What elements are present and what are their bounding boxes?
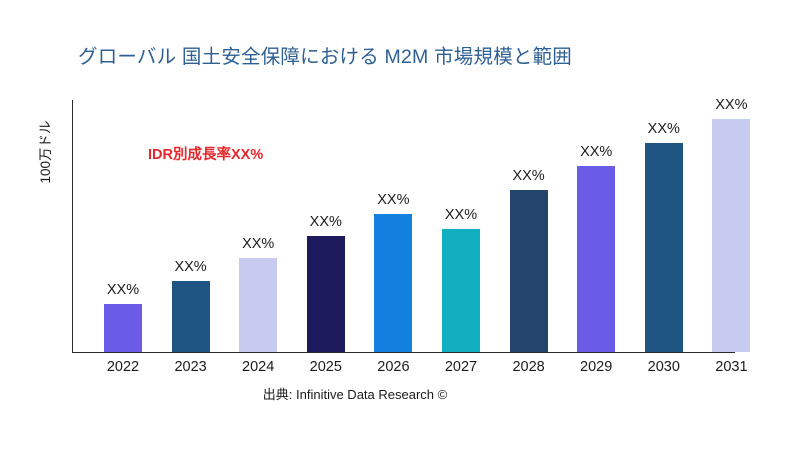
bar-2025[interactable]	[307, 236, 345, 352]
bar-2022[interactable]	[104, 304, 142, 352]
bar-2024[interactable]	[239, 258, 277, 352]
x-tick-label-2028: 2028	[512, 359, 544, 375]
x-tick-label-2027: 2027	[445, 359, 477, 375]
bar-value-label-2022: XX%	[107, 282, 139, 298]
bar-value-label-2028: XX%	[512, 168, 544, 184]
x-tick-label-2029: 2029	[580, 359, 612, 375]
bar-group: XX%2025	[293, 236, 359, 352]
bar-group: XX%2026	[360, 214, 426, 352]
x-tick-label-2025: 2025	[310, 359, 342, 375]
bar-2030[interactable]	[645, 143, 683, 352]
bar-value-label-2025: XX%	[310, 214, 342, 230]
bar-group: XX%2027	[428, 229, 494, 352]
bar-2031[interactable]	[712, 119, 750, 352]
x-tick-label-2030: 2030	[648, 359, 680, 375]
x-tick-label-2031: 2031	[715, 359, 747, 375]
x-tick-label-2026: 2026	[377, 359, 409, 375]
bar-value-label-2027: XX%	[445, 207, 477, 223]
x-tick-label-2022: 2022	[107, 359, 139, 375]
bar-2028[interactable]	[510, 190, 548, 352]
bar-2029[interactable]	[577, 166, 615, 352]
bar-2026[interactable]	[374, 214, 412, 352]
bar-value-label-2030: XX%	[648, 121, 680, 137]
bar-value-label-2031: XX%	[715, 97, 747, 113]
bar-value-label-2024: XX%	[242, 236, 274, 252]
bar-group: XX%2024	[225, 258, 291, 352]
bar-group: XX%2030	[631, 143, 697, 352]
bar-group: XX%2029	[563, 166, 629, 352]
bar-group: XX%2022	[90, 304, 156, 352]
bar-value-label-2029: XX%	[580, 144, 612, 160]
x-tick-label-2024: 2024	[242, 359, 274, 375]
bar-group: XX%2023	[158, 281, 224, 352]
bar-group: XX%2028	[496, 190, 562, 352]
bar-2027[interactable]	[442, 229, 480, 352]
bar-group: XX%2031	[698, 119, 764, 352]
source-note: 出典: Infinitive Data Research ©	[72, 384, 638, 403]
bar-value-label-2023: XX%	[174, 259, 206, 275]
bar-2023[interactable]	[172, 281, 210, 352]
chart-canvas: グローバル 国土安全保障における M2M 市場規模と範囲 100万ドル IDR別…	[0, 0, 800, 450]
x-tick-label-2023: 2023	[174, 359, 206, 375]
plot-area: XX%2022XX%2023XX%2024XX%2025XX%2026XX%20…	[0, 0, 800, 450]
bar-value-label-2026: XX%	[377, 192, 409, 208]
